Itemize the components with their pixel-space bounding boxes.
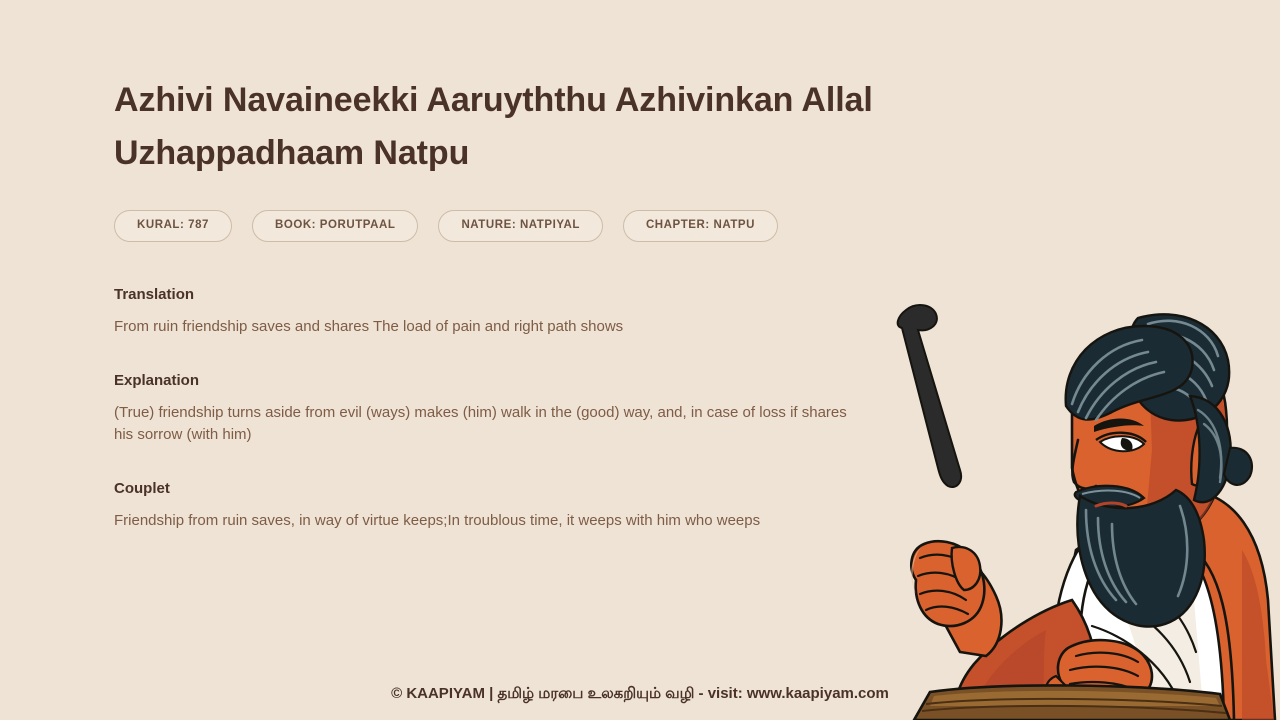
couplet-section: Couplet Friendship from ruin saves, in w…	[114, 480, 904, 532]
explanation-section: Explanation (True) friendship turns asid…	[114, 372, 904, 446]
chapter-badge[interactable]: CHAPTER: NATPU	[623, 210, 778, 242]
kural-badge[interactable]: KURAL: 787	[114, 210, 232, 242]
nature-badge[interactable]: NATURE: NATPIYAL	[438, 210, 602, 242]
translation-section: Translation From ruin friendship saves a…	[114, 286, 904, 338]
page-title: Azhivi Navaineekki Aaruyththu Azhivinkan…	[114, 74, 874, 180]
meta-badge-row: KURAL: 787 BOOK: PORUTPAAL NATURE: NATPI…	[114, 210, 904, 242]
explanation-text: (True) friendship turns aside from evil …	[114, 402, 859, 446]
explanation-heading: Explanation	[114, 372, 904, 390]
thiruvalluvar-illustration	[890, 300, 1280, 720]
book-badge[interactable]: BOOK: PORUTPAAL	[252, 210, 418, 242]
kural-card-page: Azhivi Navaineekki Aaruyththu Azhivinkan…	[0, 0, 1280, 720]
translation-text: From ruin friendship saves and shares Th…	[114, 316, 859, 338]
footer-credit: © KAAPIYAM | தமிழ் மரபை உலகறியும் வழி - …	[0, 685, 1280, 704]
translation-heading: Translation	[114, 286, 904, 304]
kural-content: Azhivi Navaineekki Aaruyththu Azhivinkan…	[114, 74, 904, 532]
couplet-text: Friendship from ruin saves, in way of vi…	[114, 510, 859, 532]
couplet-heading: Couplet	[114, 480, 904, 498]
